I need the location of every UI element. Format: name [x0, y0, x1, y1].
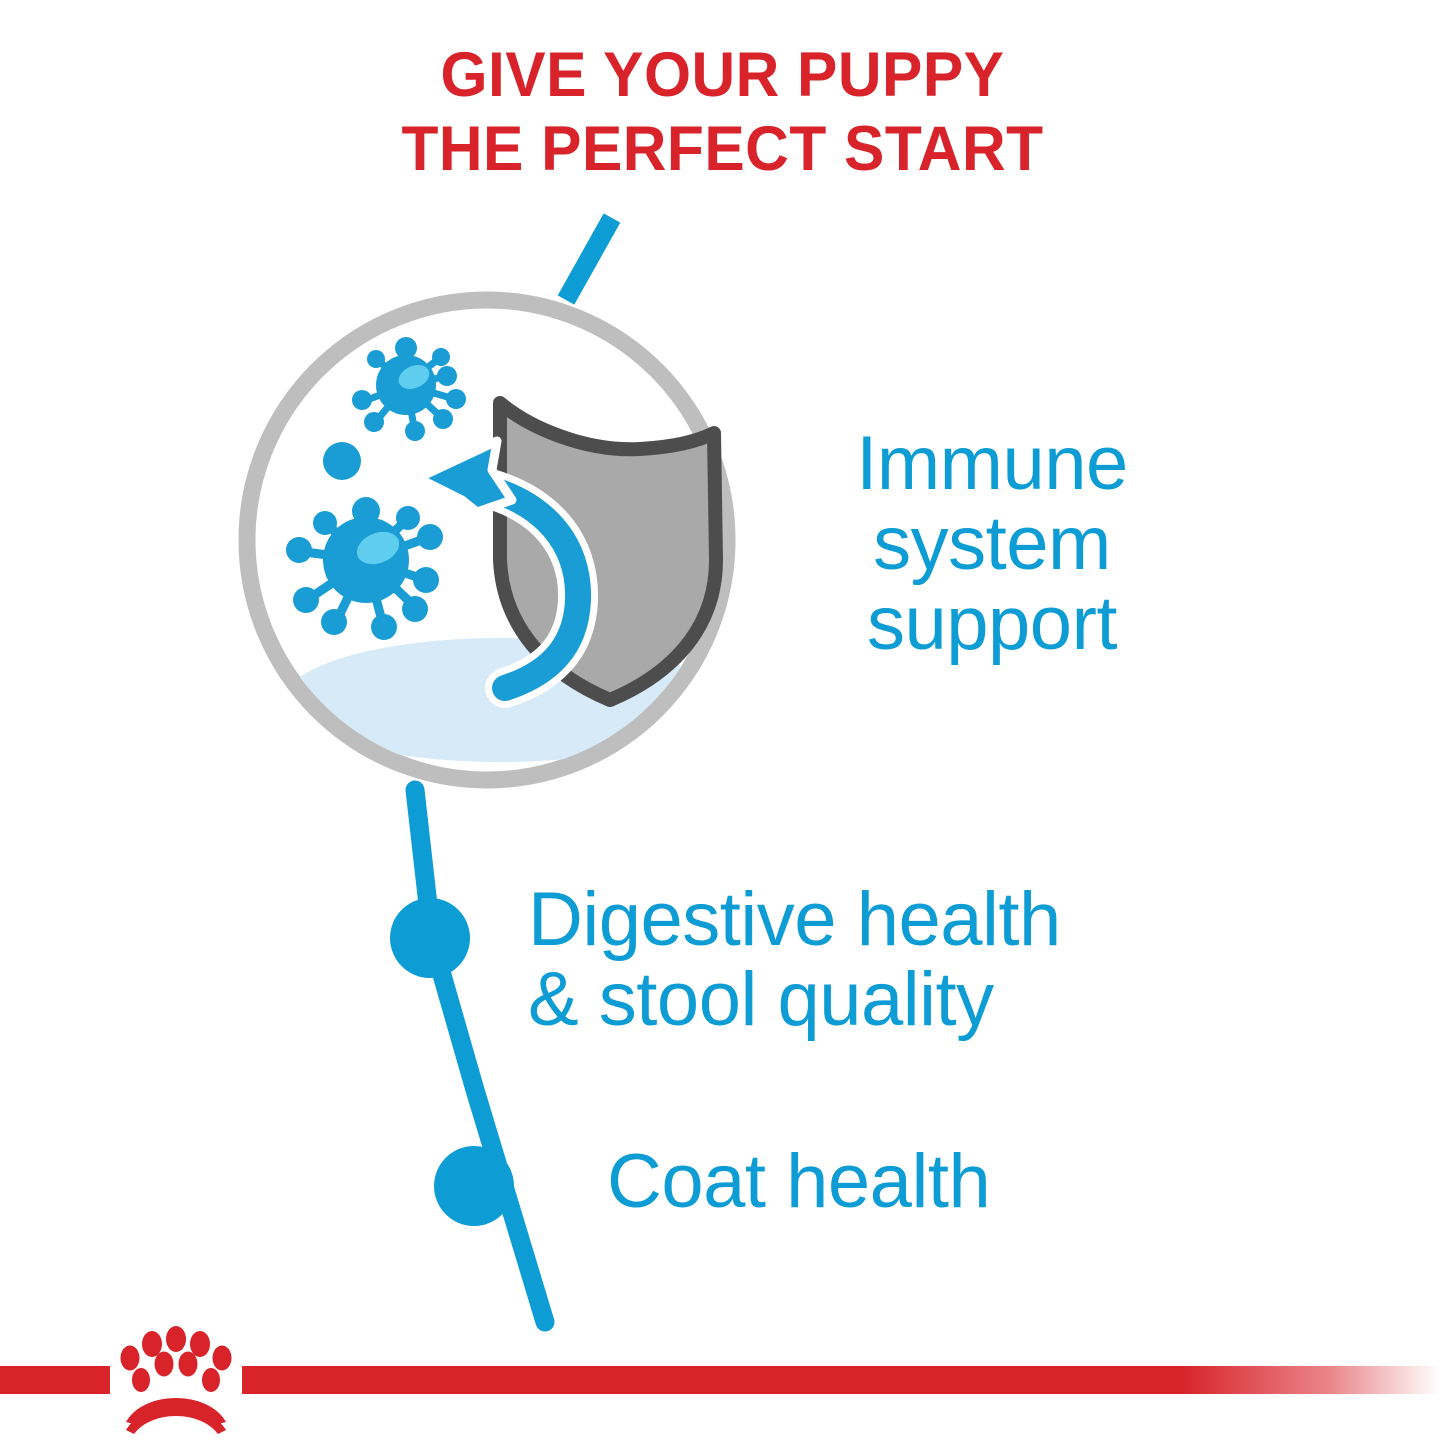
connector-node-digestive: [390, 898, 470, 978]
product-benefits-panel: GIVE YOUR PUPPY THE PERFECT START: [0, 0, 1445, 1445]
benefits-illustration: [0, 0, 1445, 1445]
benefit-digestive-line-2: & stool quality: [528, 960, 1061, 1040]
connector-node-coat: [434, 1146, 514, 1226]
benefit-label-immune-system-support: Immune system support: [812, 424, 1172, 664]
benefit-label-digestive-health: Digestive health & stool quality: [528, 880, 1061, 1040]
benefit-label-coat-health: Coat health: [607, 1142, 990, 1222]
germ-icon-dot: [323, 442, 361, 480]
benefit-immune-line-3: support: [812, 584, 1172, 664]
benefit-immune-line-2: system: [812, 504, 1172, 584]
benefit-immune-line-1: Immune: [812, 424, 1172, 504]
benefit-coat-line-1: Coat health: [607, 1142, 990, 1222]
benefit-digestive-line-1: Digestive health: [528, 880, 1061, 960]
royal-canin-crown-logo: [96, 1326, 256, 1444]
